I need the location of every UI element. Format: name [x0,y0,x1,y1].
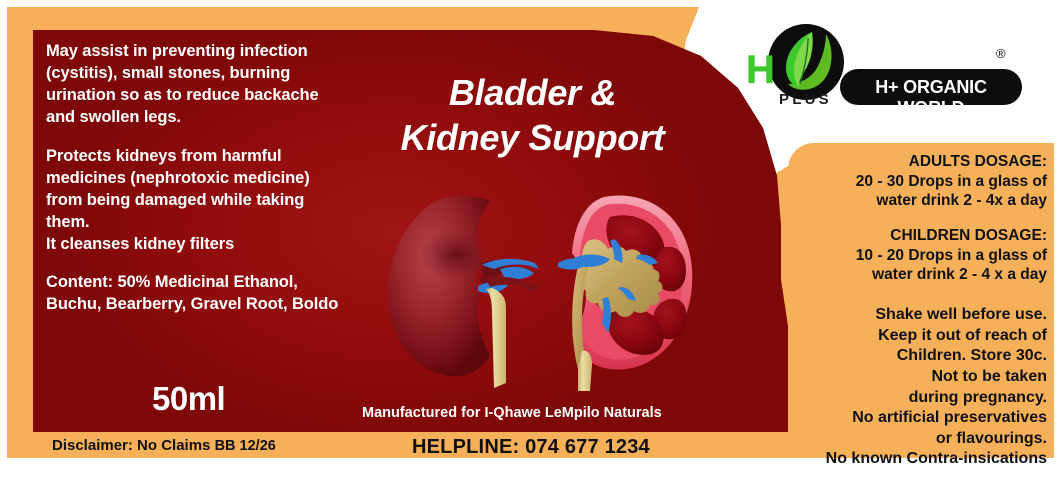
warning-line-1: Shake well before use. [796,305,1047,326]
benefit-paragraph-2-main: Protects kidneys from harmful medicines … [46,147,310,231]
warning-line-6: No artificial preservatives [796,408,1047,429]
helpline-text: HELPLINE: 074 677 1234 [412,436,650,459]
children-dosage-group: CHILDREN DOSAGE: 10 - 20 Drops in a glas… [796,226,1047,285]
kidney-cross-section [558,195,692,391]
disclaimer-label: Disclaimer: No Claims [52,437,210,454]
title-line-1: Bladder & [360,70,705,115]
warning-line-7: or flavourings. [796,429,1047,450]
logo-h-letter: H [746,50,774,90]
adults-dosage-heading: ADULTS DOSAGE: [796,152,1047,172]
children-dosage-line-1: 10 - 20 Drops in a glass of [796,246,1047,266]
brand-name-badge: H+ ORGANIC WORLD [840,69,1022,105]
warning-line-4: Not to be taken [796,367,1047,388]
disclaimer-text: Disclaimer: No Claims BB 12/26 [52,437,276,454]
leaf-icon [768,24,844,100]
title-line-2: Kidney Support [360,115,705,160]
warnings-block: Shake well before use. Keep it out of re… [796,305,1047,470]
page-title: Bladder & Kidney Support [360,70,705,161]
adults-dosage-line-1: 20 - 30 Drops in a glass of [796,172,1047,192]
benefit-paragraph-1: May assist in preventing infection (cyst… [46,41,346,129]
benefit-paragraph-2: Protects kidneys from harmful medicines … [46,146,346,256]
brand-logo: H PLUS ® H+ ORGANIC WORLD [745,22,1045,122]
dosage-block: ADULTS DOSAGE: 20 - 30 Drops in a glass … [796,152,1047,285]
kidney-illustration [382,183,712,391]
batch-code: BB 12/26 [215,438,276,454]
logo-plus-word: PLUS [779,91,832,108]
manufacturer-text: Manufactured for I-Qhawe LeMpilo Natural… [362,405,662,421]
warning-line-5: during pregnancy. [796,388,1047,409]
warning-line-8: No known Contra-insications [796,449,1047,470]
adults-dosage-group: ADULTS DOSAGE: 20 - 30 Drops in a glass … [796,152,1047,211]
product-label: May assist in preventing infection (cyst… [0,0,1061,477]
adults-dosage-line-2: water drink 2 - 4x a day [796,191,1047,211]
benefit-paragraph-2-extra: It cleanses kidney filters [46,235,234,253]
children-dosage-heading: CHILDREN DOSAGE: [796,226,1047,246]
volume-text: 50ml [152,380,225,418]
benefits-text-block: May assist in preventing infection (cyst… [46,41,346,316]
warning-line-3: Children. Store 30c. [796,346,1047,367]
content-ingredients: Content: 50% Medicinal Ethanol, Buchu, B… [46,272,346,316]
registered-trademark-icon: ® [996,46,1006,61]
warning-line-2: Keep it out of reach of [796,326,1047,347]
brand-name-text: H+ ORGANIC WORLD [840,77,1022,119]
children-dosage-line-2: water drink 2 - 4 x a day [796,265,1047,285]
